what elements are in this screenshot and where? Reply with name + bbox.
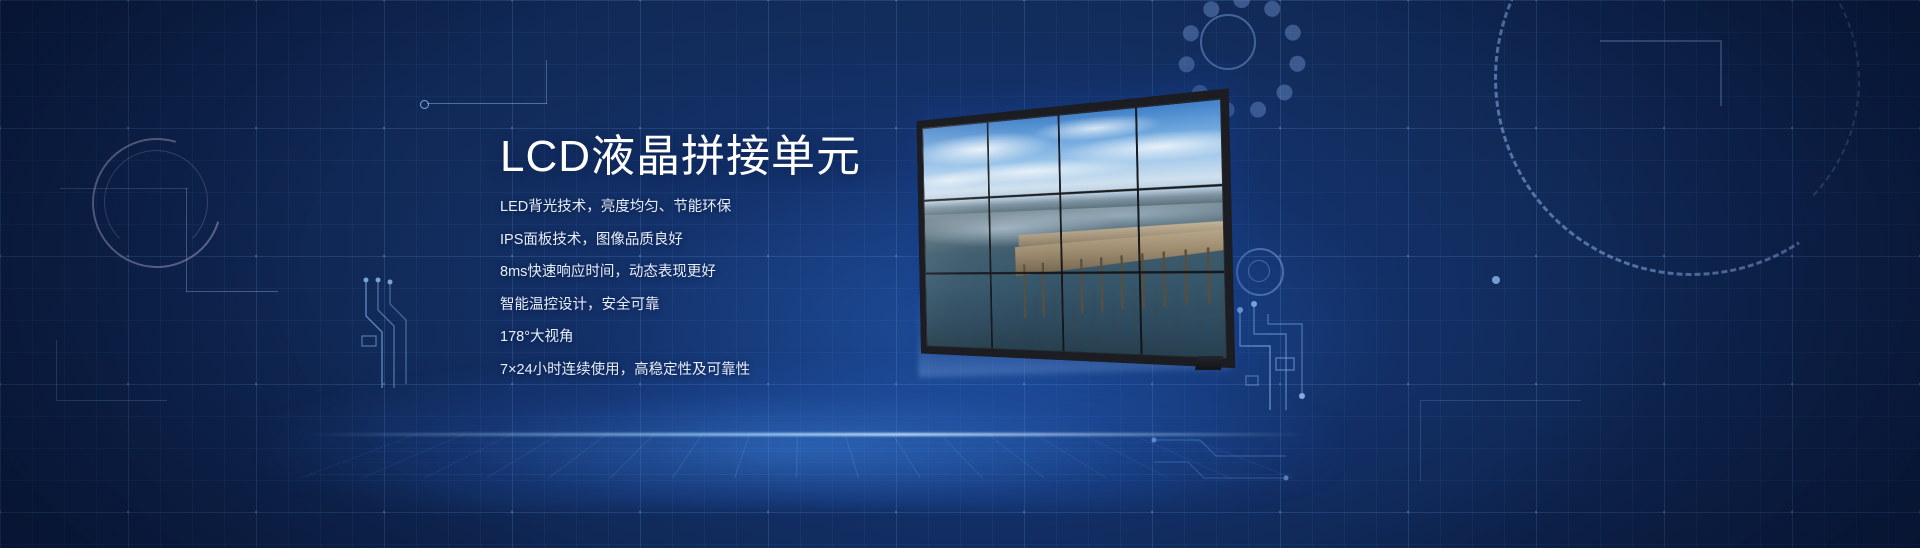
corner-bracket-icon-2 xyxy=(56,340,167,401)
feature-item-1: LED背光技术，亮度均匀、节能环保 xyxy=(500,200,930,215)
banner-stage: LCD液晶拼接单元 LED背光技术，亮度均匀、节能环保 IPS面板技术，图像品质… xyxy=(0,0,1920,548)
video-wall-frame xyxy=(916,88,1235,368)
feature-item-5: 178°大视角 xyxy=(500,330,930,345)
corner-bracket-icon xyxy=(1600,40,1722,106)
divider-line-horizontal-2 xyxy=(60,188,188,189)
feature-item-2: IPS面板技术，图像品质良好 xyxy=(500,233,930,248)
floor-light-streak xyxy=(300,433,1310,436)
circuit-trace-right-icon xyxy=(1230,300,1320,420)
perspective-floor-grid xyxy=(300,434,1300,478)
small-circle-icon xyxy=(1236,248,1284,296)
dashed-arc-icon xyxy=(1457,0,1920,313)
arc-ring-inner-icon xyxy=(104,150,208,254)
pier-reflection xyxy=(1016,284,1236,354)
feature-list: LED背光技术，亮度均匀、节能环保 IPS面板技术，图像品质良好 8ms快速响应… xyxy=(500,200,930,377)
connector-line-vertical xyxy=(546,60,547,104)
page-title: LCD液晶拼接单元 xyxy=(500,134,930,180)
circuit-trace-left-icon xyxy=(360,276,424,396)
video-wall-stand xyxy=(1195,356,1223,370)
dot-marker-icon xyxy=(1492,276,1500,284)
node-marker-icon xyxy=(420,100,429,109)
divider-line-vertical xyxy=(186,188,187,292)
gear-inner-ring-icon xyxy=(1200,14,1256,70)
feature-item-4: 智能温控设计，安全可靠 xyxy=(500,298,930,313)
banner-copy: LCD液晶拼接单元 LED背光技术，亮度均匀、节能环保 IPS面板技术，图像品质… xyxy=(500,134,930,377)
video-wall-screen-content xyxy=(922,98,1227,359)
divider-line-horizontal xyxy=(186,291,278,292)
sky-clouds xyxy=(922,98,1223,215)
feature-item-6: 7×24小时连续使用，高稳定性及可靠性 xyxy=(500,363,930,378)
dashed-arc-secondary-icon xyxy=(1526,0,1860,248)
feature-item-3: 8ms快速响应时间，动态表现更好 xyxy=(500,265,930,280)
small-circle-inner-icon xyxy=(1248,260,1270,282)
corner-bracket-icon-3 xyxy=(1420,400,1581,481)
pier-scene xyxy=(1014,220,1235,360)
arc-ring-icon xyxy=(69,115,245,291)
connector-line-horizontal xyxy=(427,103,547,104)
